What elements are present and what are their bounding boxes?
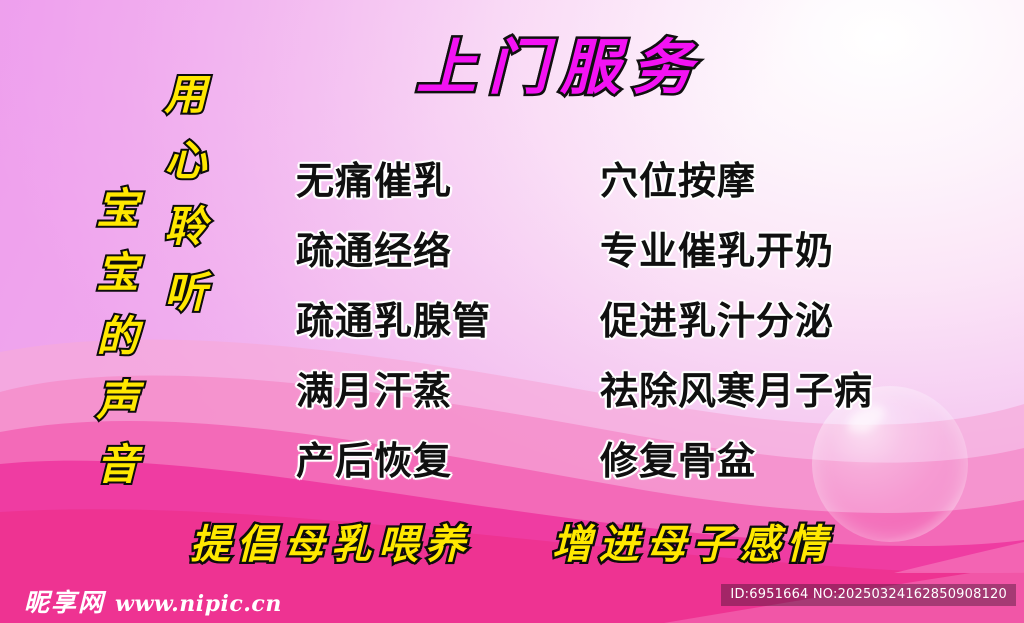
service-item: 促进乳汁分泌 [600, 290, 936, 345]
service-row: 产后恢复 修复骨盆 [296, 422, 936, 492]
service-item: 疏通经络 [296, 220, 600, 275]
service-list: 无痛催乳 穴位按摩 疏通经络 专业催乳开奶 疏通乳腺管 促进乳汁分泌 满月汗蒸 … [296, 142, 936, 492]
vertical-tagline-left: 宝宝的声音 [84, 186, 145, 506]
service-item: 无痛催乳 [296, 150, 600, 205]
image-id-badge: ID:6951664 NO:20250324162850908120 [721, 584, 1016, 606]
service-row: 疏通乳腺管 促进乳汁分泌 [296, 282, 936, 352]
poster-canvas: 上门服务 用心聆听 宝宝的声音 无痛催乳 穴位按摩 疏通经络 专业催乳开奶 疏通… [0, 0, 1024, 623]
watermark-url: www.nipic.cn [115, 591, 282, 617]
watermark-brand: 昵享网 [24, 583, 105, 619]
slogan-part-2: 增进母子感情 [552, 521, 834, 568]
page-title: 上门服务 [370, 38, 750, 98]
bottom-slogan: 提倡母乳喂养 增进母子感情 [0, 512, 1024, 570]
vertical-tagline-right: 用心聆听 [152, 72, 213, 336]
service-item: 穴位按摩 [600, 150, 936, 205]
service-row: 无痛催乳 穴位按摩 [296, 142, 936, 212]
service-item: 祛除风寒月子病 [600, 360, 936, 415]
service-item: 疏通乳腺管 [296, 290, 600, 345]
slogan-part-1: 提倡母乳喂养 [190, 521, 472, 568]
service-item: 专业催乳开奶 [600, 220, 936, 275]
service-item: 修复骨盆 [600, 430, 936, 485]
service-item: 满月汗蒸 [296, 360, 600, 415]
service-item: 产后恢复 [296, 430, 600, 485]
service-row: 满月汗蒸 祛除风寒月子病 [296, 352, 936, 422]
watermark: 昵享网 www.nipic.cn [24, 583, 282, 619]
service-row: 疏通经络 专业催乳开奶 [296, 212, 936, 282]
